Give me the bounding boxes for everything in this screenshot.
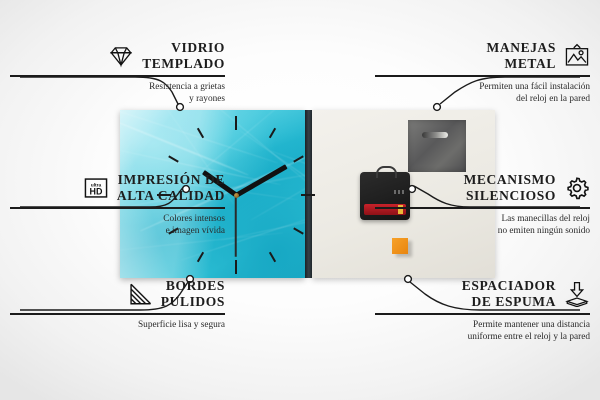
callout-title: VIDRIO TEMPLADO <box>142 40 225 71</box>
ultra-hd-large-text: HD <box>89 186 102 196</box>
callout-impresion-alta-calidad[interactable]: ultra HD IMPRESIÓN DE ALTA CALIDAD Color… <box>10 172 225 238</box>
callout-title: ESPACIADOR DE ESPUMA <box>462 278 556 309</box>
gear-icon <box>564 175 590 201</box>
callout-title: MANEJAS METAL <box>487 40 556 71</box>
callout-subtitle: Resistencia a grietas y rayones <box>10 81 225 106</box>
callout-title: BORDES PULIDOS <box>161 278 225 309</box>
picture-frame-icon <box>564 43 590 69</box>
callout-vidrio-templado[interactable]: VIDRIO TEMPLADO Resistencia a grietas y … <box>10 40 225 106</box>
callout-subtitle: Las manecillas del reloj no emiten ningú… <box>375 213 590 238</box>
polished-edge-icon <box>127 281 153 307</box>
callout-manejas-metal[interactable]: MANEJAS METAL Permiten una fácil instala… <box>375 40 590 106</box>
ultra-hd-icon: ultra HD <box>83 175 109 201</box>
callout-subtitle: Permite mantener una distancia uniforme … <box>375 319 590 344</box>
infographic-canvas: VIDRIO TEMPLADO Resistencia a grietas y … <box>0 0 600 400</box>
callout-title: MECANISMO SILENCIOSO <box>464 172 556 203</box>
callout-bordes-pulidos[interactable]: BORDES PULIDOS Superficie lisa y segura <box>10 278 225 331</box>
callout-subtitle: Colores intensos e imagen vívida <box>10 213 225 238</box>
diamond-icon <box>108 43 134 69</box>
callout-subtitle: Superficie lisa y segura <box>10 319 225 332</box>
callout-divider <box>375 313 590 315</box>
callout-divider <box>375 207 590 209</box>
callout-divider <box>10 75 225 77</box>
callout-divider <box>10 313 225 315</box>
callout-divider <box>10 207 225 209</box>
callout-title: IMPRESIÓN DE ALTA CALIDAD <box>117 172 225 203</box>
foam-spacer-icon <box>564 281 590 307</box>
callout-subtitle: Permiten una fácil instalación del reloj… <box>375 81 590 106</box>
callout-divider <box>375 75 590 77</box>
callout-mecanismo-silencioso[interactable]: MECANISMO SILENCIOSO Las manecillas del … <box>375 172 590 238</box>
callout-espaciador-espuma[interactable]: ESPACIADOR DE ESPUMA Permite mantener un… <box>375 278 590 344</box>
